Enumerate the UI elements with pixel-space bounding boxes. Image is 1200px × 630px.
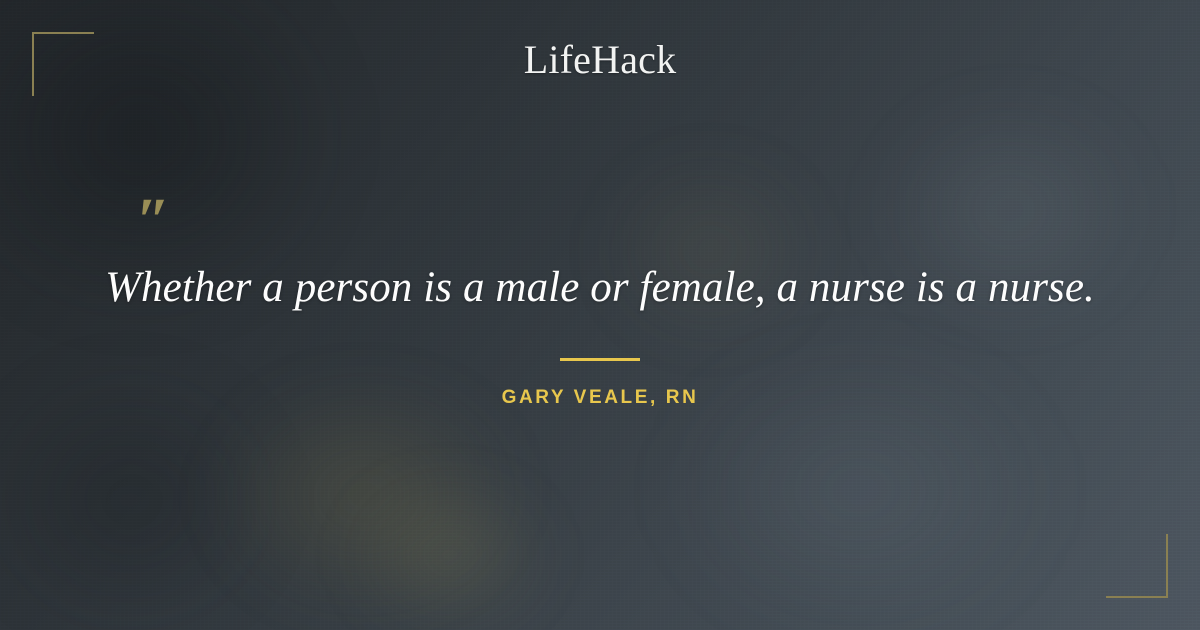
quote-author: GARY VEALE, RN [0, 387, 1200, 409]
corner-bracket-bottom-right-icon [1106, 534, 1168, 598]
quote-text: Whether a person is a male or female, a … [60, 262, 1140, 314]
attribution-divider [560, 358, 640, 361]
lifehack-logo[interactable]: LifeHack [0, 40, 1200, 80]
quote-card: LifeHack ″ Whether a person is a male or… [0, 0, 1200, 630]
background-grain-texture [0, 0, 1200, 630]
quotation-mark-icon: ″ [136, 190, 168, 252]
